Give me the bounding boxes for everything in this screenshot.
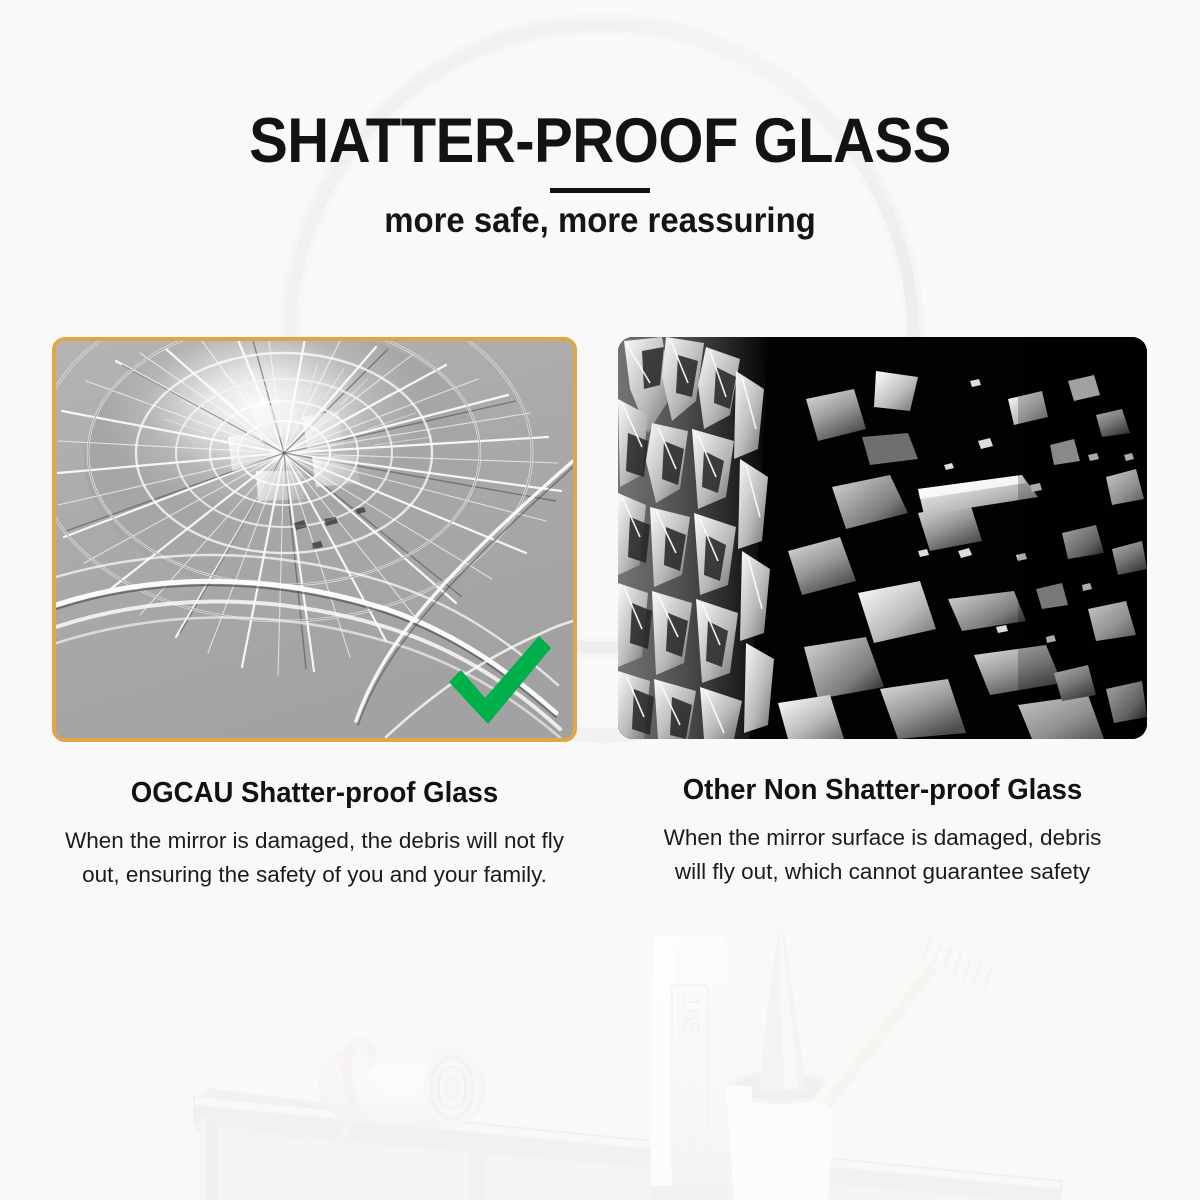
title-divider [550, 188, 650, 193]
page-subtitle: more safe, more reassuring [36, 201, 1164, 241]
svg-text:LA BOUCHE: LA BOUCHE [685, 1080, 701, 1160]
non-shatterproof-glass-photo-frame [618, 337, 1147, 739]
caption-heading-shatterproof: OGCAU Shatter-proof Glass [65, 777, 564, 810]
caption-heading-non-shatterproof: Other Non Shatter-proof Glass [631, 774, 1134, 807]
caption-body-non-shatterproof: When the mirror surface is damaged, debr… [618, 821, 1147, 889]
toothbrush-icon [814, 938, 996, 1108]
page-title: SHATTER-PROOF GLASS [48, 108, 1152, 174]
green-check-icon [439, 630, 559, 730]
shard-mass [618, 337, 774, 739]
cup-utensil-icon [760, 930, 806, 1092]
comparison-column-non-shatterproof: Other Non Shatter-proof Glass When the m… [618, 337, 1147, 889]
svg-text:165: 165 [677, 995, 704, 1035]
infographic-canvas: 165 LA BOUCHE [0, 0, 1200, 1200]
shelf-rack-icon [193, 1088, 1062, 1200]
caption-body-shatterproof: When the mirror is damaged, the debris w… [52, 824, 577, 892]
header: SHATTER-PROOF GLASS more safe, more reas… [0, 108, 1200, 241]
toothbrush-cup-icon [726, 1070, 836, 1200]
exploding-glass-shards-image [618, 337, 1147, 739]
comparison-column-shatterproof: OGCAU Shatter-proof Glass When the mirro… [52, 337, 577, 892]
toothpaste-tube-icon: 165 LA BOUCHE [650, 935, 732, 1200]
shatterproof-glass-photo-frame [52, 337, 577, 742]
rolled-towel-icon [318, 1040, 486, 1134]
